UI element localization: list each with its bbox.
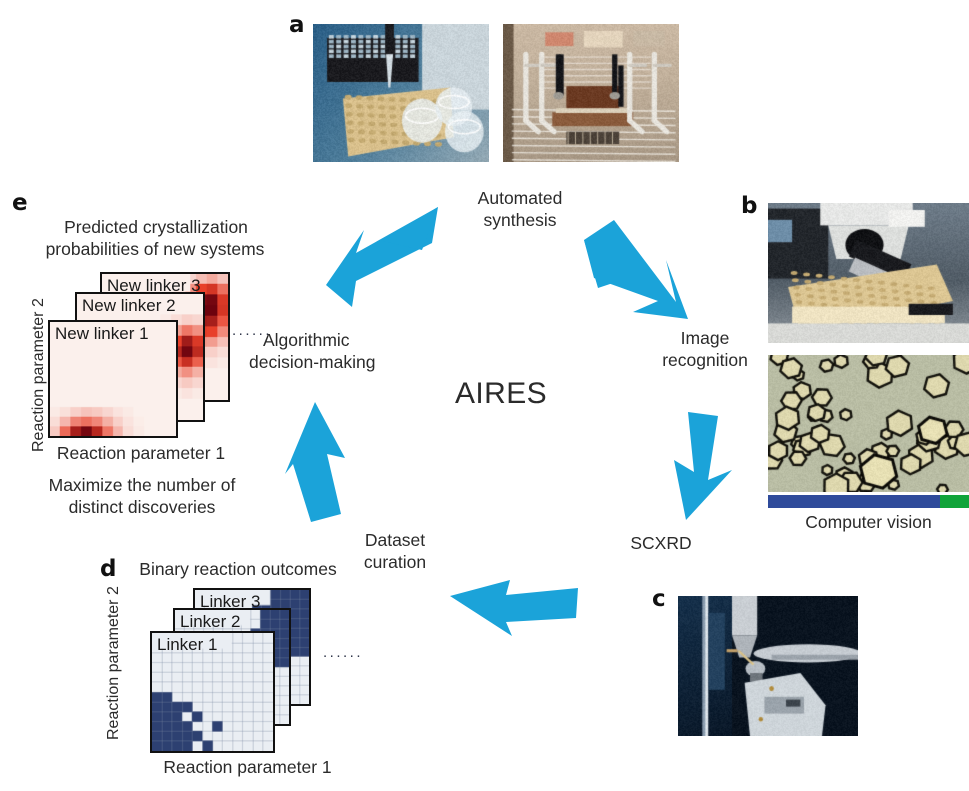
cycle-label-automated-synthesis-line1: Automated: [440, 188, 600, 209]
arrow-to-algorithmic-decision-making: [283, 400, 363, 525]
scxrd-goniometer-crystal-mount-photo: [678, 596, 858, 736]
panel-e-title-line1: Predicted crystallization: [36, 217, 276, 238]
panel-d-ylabel: Reaction parameter 2: [105, 586, 123, 740]
panel-d-ellipsis: ......: [323, 644, 363, 661]
panel-d-title: Binary reaction outcomes: [130, 559, 346, 580]
crystal-class-blue-segment: [768, 495, 940, 508]
panel-letter-e: e: [12, 192, 28, 215]
center-label-aires: AIRES: [455, 377, 547, 411]
heatmap-card-new-linker-1: New linker 1: [48, 320, 178, 438]
heatmap-card-label: New linker 2: [77, 294, 182, 319]
cycle-label-automated-synthesis-line2: synthesis: [440, 210, 600, 231]
panel-letter-a: a: [289, 14, 305, 37]
cycle-label-dataset-curation-line2: curation: [345, 552, 445, 573]
panel-letter-b: b: [741, 195, 757, 218]
cycle-label-dataset-curation-line1: Dataset: [345, 530, 445, 551]
oven-clamped-reaction-block-photo: [503, 24, 679, 162]
arrow-to-image-recognition: [580, 216, 700, 336]
panel-e-title-line2: probabilities of new systems: [24, 239, 286, 260]
panel-e-xlabel: Reaction parameter 1: [46, 443, 236, 464]
panel-e-ylabel: Reaction parameter 2: [30, 298, 48, 452]
crystal-class-green-segment: [940, 495, 969, 508]
panel-letter-d: d: [100, 558, 116, 581]
computer-vision-class-bar: [768, 495, 969, 508]
panel-e-footnote-line1: Maximize the number of: [22, 475, 262, 496]
computer-vision-label: Computer vision: [768, 512, 969, 533]
cycle-label-image-recognition-line2: recognition: [640, 350, 770, 371]
pipetting-robot-96-well-plate-photo: [313, 24, 489, 162]
panel-d-xlabel: Reaction parameter 1: [135, 757, 360, 778]
heatmap-card-label: Linker 1: [152, 633, 223, 658]
heatmap-card-label: New linker 1: [50, 322, 155, 347]
heatmap-card-linker-1: Linker 1: [150, 631, 275, 753]
arrow-to-scxrd: [660, 408, 740, 526]
arrow-to-dataset-curation: [448, 578, 583, 640]
cycle-label-algorithmic-decision-line2: decision-making: [249, 352, 375, 373]
mof-crystals-micrograph: [768, 355, 969, 492]
cycle-label-algorithmic-decision-line1: Algorithmic: [263, 330, 350, 351]
arrow-to-automated-synthesis: [322, 203, 442, 328]
panel-e-footnote-line2: distinct discoveries: [22, 497, 262, 518]
panel-letter-c: c: [652, 588, 666, 611]
cycle-label-scxrd: SCXRD: [601, 533, 721, 554]
optical-microscope-over-well-plate-photo: [768, 203, 969, 343]
